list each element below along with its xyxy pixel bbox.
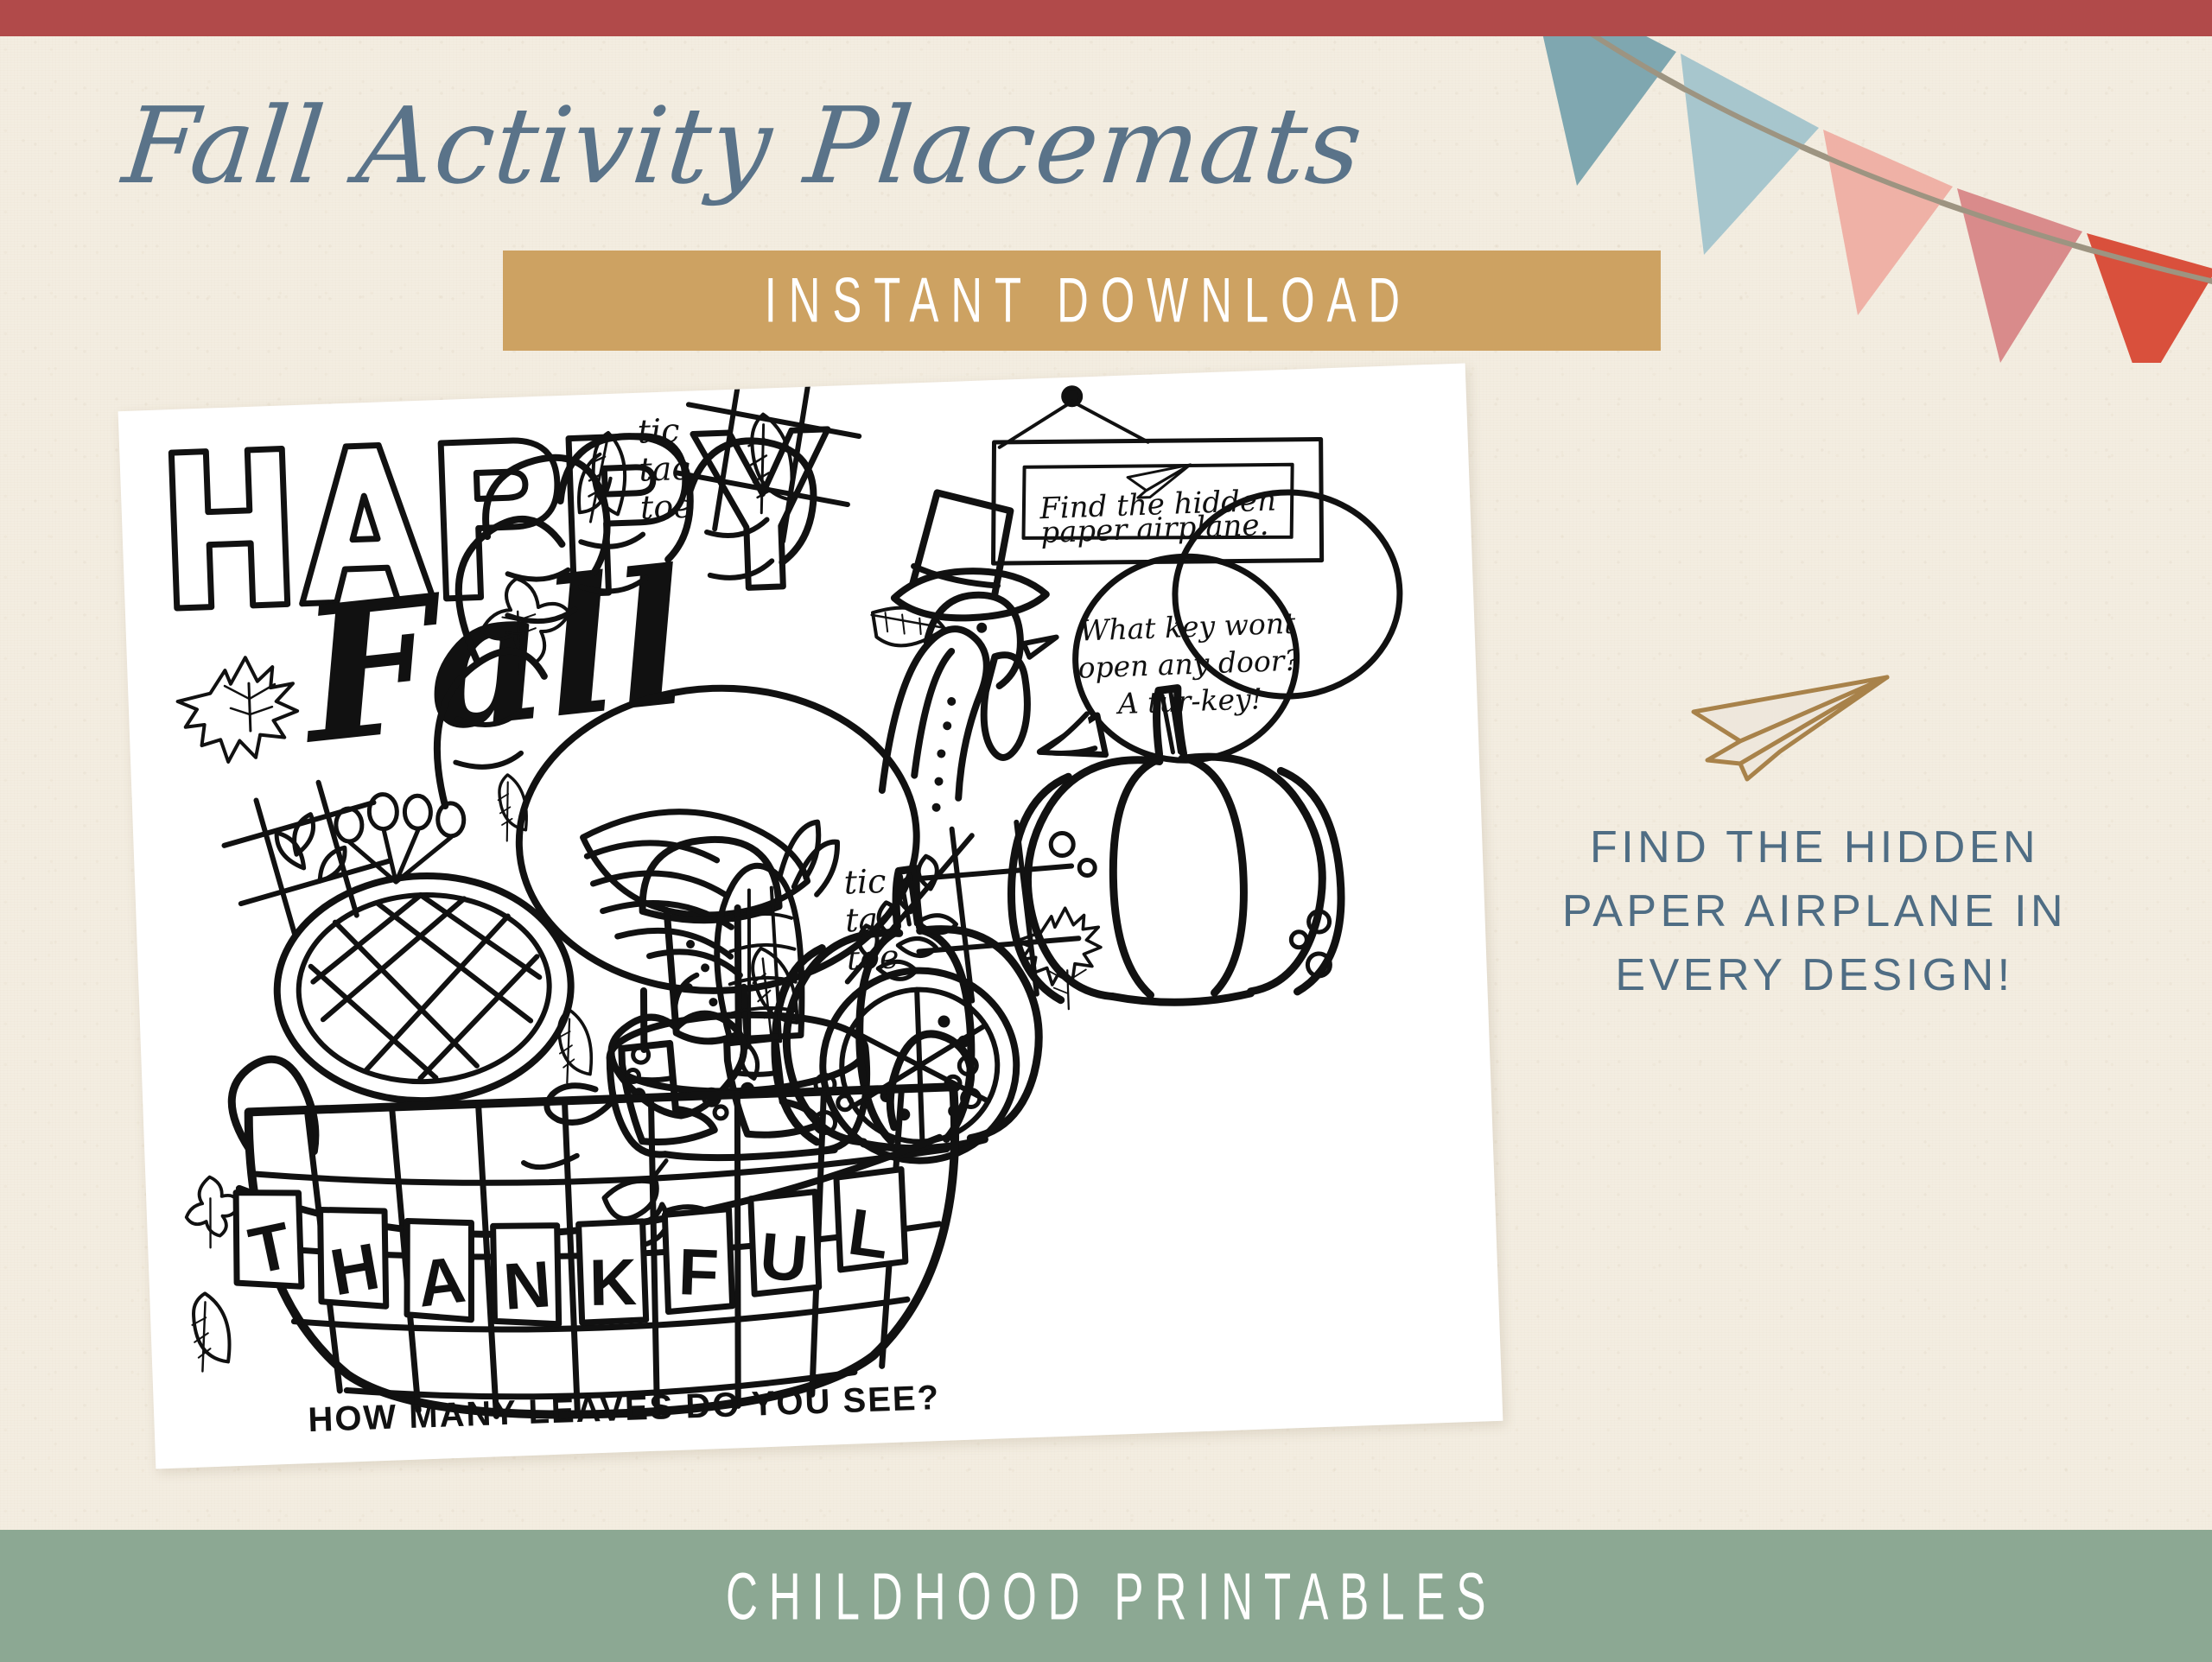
framed-sign: Find the hidden paper airplane. — [987, 379, 1325, 573]
paper-airplane-icon — [1687, 658, 1903, 788]
hidden-airplane-note-line3: EVERY DESIGN! — [1503, 944, 2126, 1008]
joke-text: What key wont open any door? A tur-key! — [1076, 606, 1301, 722]
svg-text:tic: tic — [843, 862, 887, 902]
hidden-airplane-note: FIND THE HIDDEN PAPER AIRPLANE IN EVERY … — [1503, 816, 2126, 1007]
framed-sign-line2: paper airplane. — [1040, 508, 1269, 550]
page-title: Fall Activity Placemats — [0, 93, 1491, 199]
svg-text:N: N — [501, 1247, 554, 1324]
pie-icon — [273, 871, 575, 1106]
pumpkin-large — [1004, 682, 1344, 1008]
hidden-airplane-note-line2: PAPER AIRPLANE IN — [1503, 880, 2126, 944]
svg-text:K: K — [588, 1246, 638, 1320]
brand-label: CHILDHOOD PRINTABLES — [715, 1557, 1497, 1634]
svg-text:U: U — [757, 1219, 810, 1296]
bunting-decoration — [1512, 0, 2212, 363]
top-accent-bar — [0, 0, 2212, 36]
svg-text:A: A — [413, 1243, 469, 1322]
page-background: Fall Activity Placemats INSTANT DOWNLOAD… — [0, 0, 2212, 1662]
leaves-question: HOW MANY LEAVES DO YOU SEE? — [308, 1379, 941, 1439]
placemat-sheet: Fall — [118, 363, 1503, 1469]
bunting-pennant-2 — [1681, 54, 1819, 255]
svg-text:F: F — [677, 1235, 720, 1310]
instant-download-badge: INSTANT DOWNLOAD — [503, 251, 1661, 351]
brand-footer: CHILDHOOD PRINTABLES — [0, 1530, 2212, 1662]
hidden-airplane-note-line1: FIND THE HIDDEN — [1503, 816, 2126, 880]
instant-download-label: INSTANT DOWNLOAD — [752, 264, 1411, 337]
bunting-pennant-3 — [1823, 130, 1953, 315]
maple-leaf-icon — [176, 656, 299, 764]
svg-text:What key wont: What key wont — [1079, 606, 1297, 648]
placemat-preview[interactable]: Fall — [86, 363, 1486, 1503]
svg-text:A tur-key!: A tur-key! — [1115, 682, 1262, 720]
svg-text:open any door?: open any door? — [1077, 644, 1300, 685]
